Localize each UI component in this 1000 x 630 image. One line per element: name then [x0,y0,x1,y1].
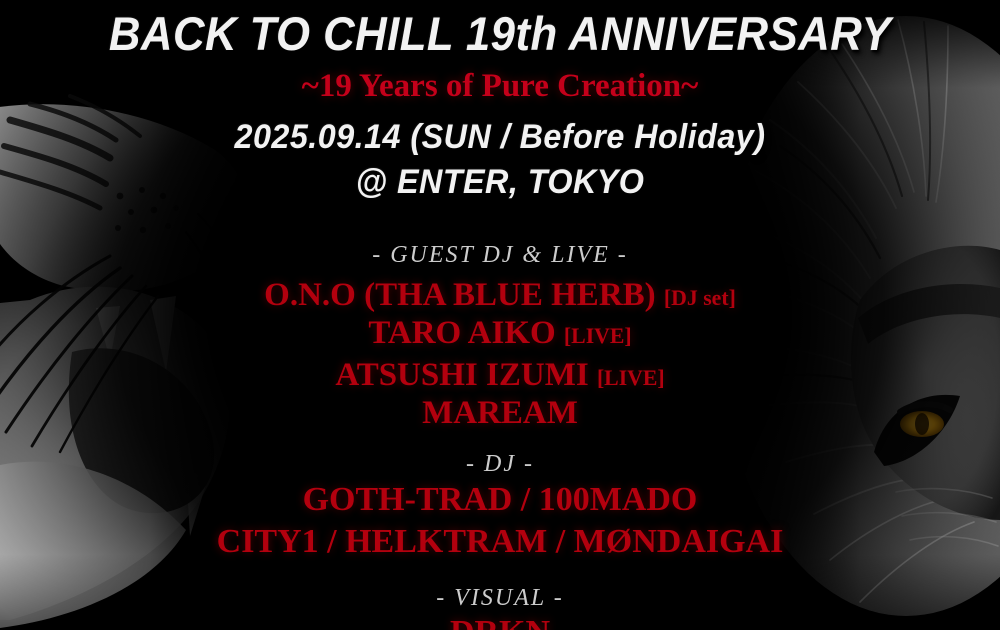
event-subtitle: ~19 Years of Pure Creation~ [0,68,1000,105]
artist-name: O.N.O (THA BLUE HERB) [264,277,655,313]
event-title: BACK TO CHILL 19th ANNIVERSARY [35,6,965,61]
lineup-item-dj-1: GOTH-TRAD / 100MADO [0,481,1000,519]
artist-name: TARO AIKO [368,315,555,351]
event-venue: @ ENTER, TOKYO [25,163,975,202]
artist-name: ATSUSHI IZUMI [335,357,588,393]
artist-tag: [LIVE] [564,324,632,348]
section-heading-guest: - GUEST DJ & LIVE - [0,242,1000,269]
section-heading-dj: - DJ - [0,451,1000,478]
event-date: 2025.09.14 (SUN / Before Holiday) [25,118,975,157]
artist-name: MAREAM [422,395,578,431]
lineup-item-dj-2: CITY1 / HELKTRAM / MØNDAIGAI [0,523,1000,561]
lineup-item-visual-1: DRKN [0,614,1000,630]
flyer-text-stack: BACK TO CHILL 19th ANNIVERSARY ~19 Years… [0,0,1000,630]
lineup-item-guest-1: O.N.O (THA BLUE HERB) [DJ set] [0,277,1000,314]
event-flyer: BACK TO CHILL 19th ANNIVERSARY ~19 Years… [0,0,1000,630]
lineup-item-guest-4: MAREAM [0,395,1000,432]
section-heading-visual: - VISUAL - [0,585,1000,612]
lineup-item-guest-2: TARO AIKO [LIVE] [0,315,1000,352]
artist-tag: [DJ set] [664,286,736,310]
artist-tag: [LIVE] [597,366,665,390]
lineup-item-guest-3: ATSUSHI IZUMI [LIVE] [0,357,1000,394]
